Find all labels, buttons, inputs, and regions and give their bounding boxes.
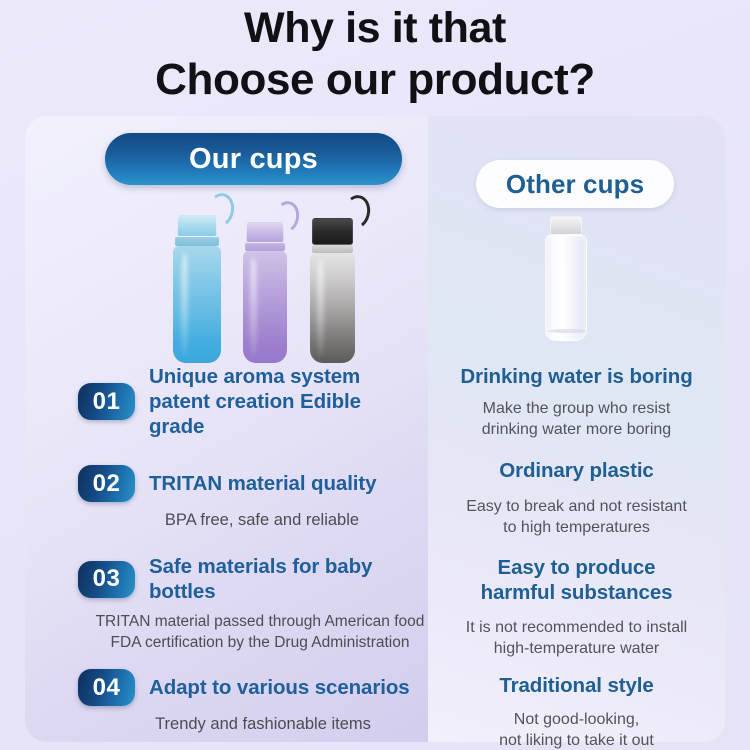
blue-sport-bottle-icon <box>173 213 221 363</box>
plain-clear-bottle-icon <box>545 216 587 341</box>
drawback-title-3-line1: Easy to produce <box>428 555 725 580</box>
drawback-title-4: Traditional style <box>428 673 725 698</box>
drawback-list: Drinking water is boring Make the group … <box>428 364 725 750</box>
drawback-subtitle-3-line2: high-temperature water <box>428 638 725 659</box>
bottle-lid-icon <box>177 215 217 237</box>
feature-item-01: 01 Unique aroma system patent creation E… <box>78 364 428 439</box>
drawback-subtitle-3-line1: It is not recommended to install <box>428 617 725 638</box>
feature-item-03: 03 Safe materials for baby bottles TRITA… <box>78 554 428 653</box>
bottle-base-ring-icon <box>548 329 586 333</box>
feature-list: 01 Unique aroma system patent creation E… <box>25 364 428 735</box>
drawback-title-2: Ordinary plastic <box>428 458 725 483</box>
bottle-body-icon <box>310 253 355 363</box>
drawback-title-1: Drinking water is boring <box>428 364 725 389</box>
purple-sport-bottle-icon <box>243 219 287 363</box>
bottle-lid-icon <box>246 222 284 243</box>
page-title: Why is it that Choose our product? <box>0 0 750 118</box>
feature-number-01: 01 <box>93 390 121 414</box>
feature-number-02: 02 <box>93 472 121 496</box>
feature-number-badge-04: 04 <box>78 669 135 706</box>
feature-title-02: TRITAN material quality <box>149 471 376 496</box>
drawback-item-2: Ordinary plastic Easy to break and not r… <box>428 458 725 538</box>
our-cups-header-badge: Our cups <box>105 133 402 185</box>
feature-item-04: 04 Adapt to various scenarios Trendy and… <box>78 669 428 735</box>
other-cups-header-label: Other cups <box>506 171 644 197</box>
feature-subtitle-03: TRITAN material passed through American … <box>90 611 430 653</box>
title-line-2: Choose our product? <box>155 54 595 106</box>
drawback-item-3: Easy to produce harmful substances It is… <box>428 555 725 659</box>
bottle-body-icon <box>545 235 587 341</box>
bottle-collar-icon <box>245 243 285 251</box>
feature-subtitle-04: Trendy and fashionable items <box>98 714 428 735</box>
drawback-subtitle-1-line2: drinking water more boring <box>428 419 725 440</box>
feature-subtitle-02: BPA free, safe and reliable <box>96 510 428 531</box>
drawback-item-4: Traditional style Not good-looking, not … <box>428 673 725 750</box>
our-cups-header-label: Our cups <box>189 145 318 174</box>
feature-title-04: Adapt to various scenarios <box>149 675 410 700</box>
bottle-collar-icon <box>312 245 353 253</box>
other-cups-header-badge: Other cups <box>476 160 674 208</box>
black-sport-bottle-icon <box>310 215 355 363</box>
bottle-lid-icon <box>312 218 353 245</box>
feature-number-04: 04 <box>93 676 121 700</box>
feature-title-01: Unique aroma system patent creation Edib… <box>149 364 421 439</box>
feature-item-02: 02 TRITAN material quality BPA free, saf… <box>78 465 428 531</box>
our-cups-product-images <box>25 198 428 363</box>
our-cups-panel: Our cups <box>25 116 428 742</box>
bottle-body-icon <box>173 246 221 363</box>
feature-number-badge-03: 03 <box>78 561 135 598</box>
feature-number-03: 03 <box>93 567 121 591</box>
other-cups-panel: Other cups Drinking water is boring Make… <box>428 116 725 742</box>
bottle-body-icon <box>243 251 287 363</box>
bottle-collar-icon <box>175 237 219 246</box>
drawback-subtitle-4-line2: not liking to take it out <box>428 730 725 750</box>
comparison-panels: Our cups <box>0 116 750 750</box>
drawback-title-3-line2: harmful substances <box>428 580 725 605</box>
title-line-1: Why is it that <box>244 2 506 54</box>
drawback-item-1: Drinking water is boring Make the group … <box>428 364 725 440</box>
drawback-subtitle-2-line1: Easy to break and not resistant <box>428 496 725 517</box>
drawback-subtitle-1-line1: Make the group who resist <box>428 398 725 419</box>
feature-title-03: Safe materials for baby bottles <box>149 554 428 604</box>
feature-number-badge-02: 02 <box>78 465 135 502</box>
drawback-subtitle-4-line1: Not good-looking, <box>428 709 725 730</box>
bottle-cap-icon <box>550 216 582 235</box>
drawback-subtitle-2-line2: to high temperatures <box>428 517 725 538</box>
feature-number-badge-01: 01 <box>78 383 135 420</box>
